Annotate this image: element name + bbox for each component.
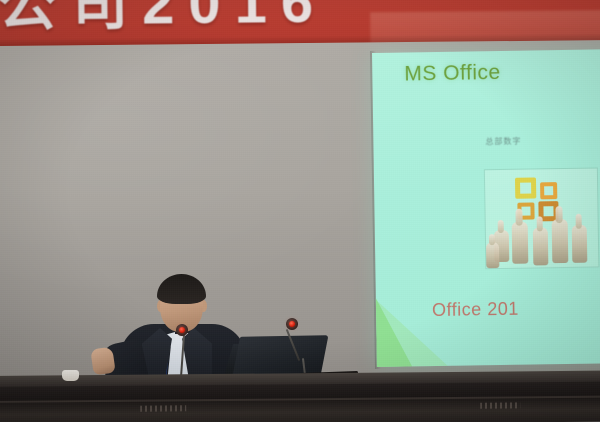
water-cup (62, 370, 79, 381)
podium-vent (480, 402, 520, 408)
slide-caption: 总部数字 (485, 136, 521, 148)
thumbs-up-hand-icon (552, 219, 569, 263)
podium-front (0, 382, 600, 422)
presentation-photo: 公司2016 MS Office 总部数字 Office 201 (0, 0, 600, 422)
microphone-led-icon (289, 321, 295, 327)
slide-picture (484, 167, 600, 269)
event-banner: 公司2016 (0, 0, 600, 46)
microphone-head (286, 318, 298, 330)
thumbs-up-hand-icon (572, 225, 588, 263)
slide-wedge-accent (372, 219, 479, 367)
thumbs-up-hand-icon (533, 227, 549, 265)
speaker-hand (90, 347, 115, 376)
thumbs-up-hand-icon (486, 242, 499, 268)
speaker-hair (157, 274, 206, 304)
microphone-led-icon (179, 327, 185, 333)
projected-slide: MS Office 总部数字 Office 201 (372, 49, 600, 367)
slide-title: MS Office (404, 61, 501, 87)
microphone-head (176, 324, 188, 336)
thumbs-up-hand-icon (512, 222, 529, 264)
podium-vent (140, 405, 186, 411)
slide-footer-text: Office 201 (432, 299, 519, 321)
